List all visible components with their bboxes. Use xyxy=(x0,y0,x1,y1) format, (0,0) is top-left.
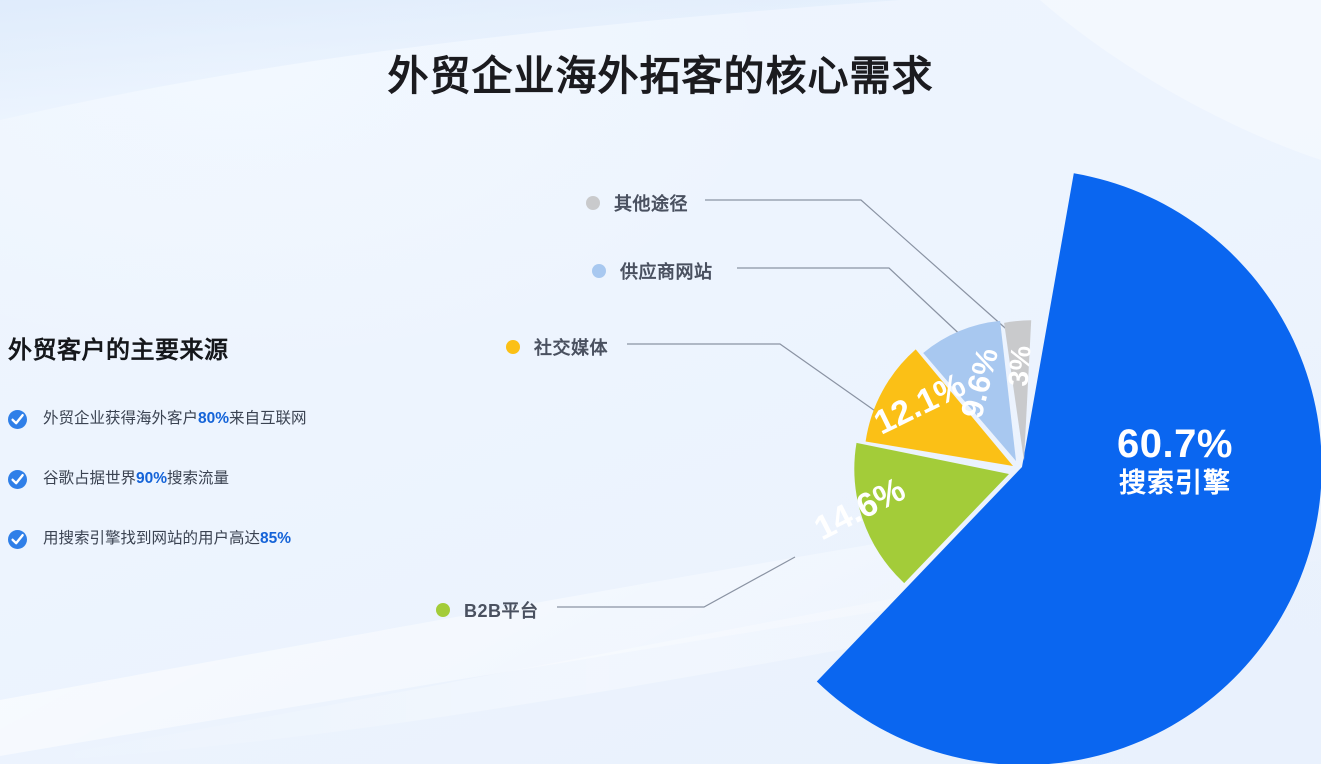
legend-item-b2b[interactable]: B2B平台 xyxy=(436,597,539,623)
legend-dot-other-icon xyxy=(586,196,600,210)
legend-item-other[interactable]: 其他途径 xyxy=(586,190,688,216)
legend-label-other: 其他途径 xyxy=(614,190,688,216)
leader-line-social xyxy=(627,344,888,420)
legend-label-b2b: B2B平台 xyxy=(464,597,539,623)
legend-dot-supplier-icon xyxy=(592,264,606,278)
leader-line-b2b xyxy=(557,557,795,607)
legend-item-supplier[interactable]: 供应商网站 xyxy=(592,258,713,284)
legend-dot-b2b-icon xyxy=(436,603,450,617)
slice-label-search-engine: 60.7% 搜索引擎 xyxy=(1090,421,1260,499)
infographic-canvas: 外贸企业海外拓客的核心需求 外贸客户的主要来源 外贸企业获得海外客户80%来自互… xyxy=(0,0,1321,764)
legend-label-supplier: 供应商网站 xyxy=(620,258,713,284)
legend-item-social[interactable]: 社交媒体 xyxy=(506,334,608,360)
slice-name-search-engine: 搜索引擎 xyxy=(1090,467,1260,499)
pie-chart-svg xyxy=(0,0,1321,764)
slice-percent-search-engine: 60.7% xyxy=(1090,421,1260,467)
legend-label-social: 社交媒体 xyxy=(534,334,608,360)
pie-chart: 其他途径 供应商网站 社交媒体 B2B平台 60.7% 搜索引擎 12.1% 1… xyxy=(0,0,1321,764)
legend-dot-social-icon xyxy=(506,340,520,354)
